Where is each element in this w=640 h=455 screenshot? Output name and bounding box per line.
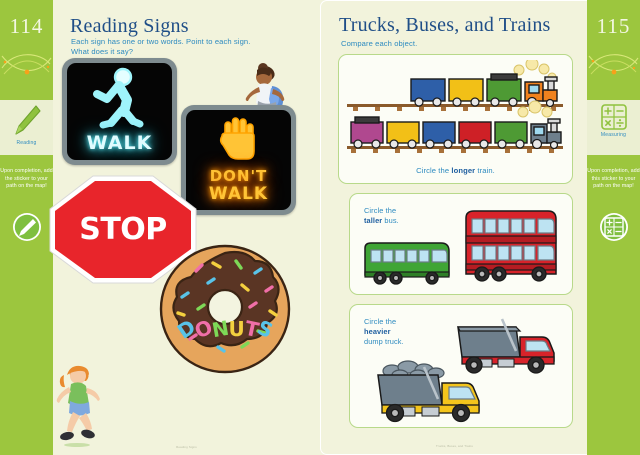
measuring-sticker-icon [599, 212, 629, 242]
right-rail-subject-label: Measuring [587, 132, 640, 138]
trains-illustration [345, 60, 567, 156]
right-page-number: 115 [587, 14, 640, 39]
walk-sign-face: WALK [67, 63, 172, 160]
trains-prompt: Circle the longer train. [339, 166, 572, 175]
right-page: Trucks, Buses, and Trains Compare each o… [320, 0, 588, 455]
walking-child-illustration [31, 355, 111, 450]
left-rail-subject: Reading [0, 104, 53, 146]
dont-walk-sign-word-2: WALK [186, 184, 291, 204]
walking-person-icon [67, 66, 162, 132]
right-sticker-badge [587, 212, 640, 247]
swirl-decoration [0, 42, 53, 84]
left-page: Reading Signs Each sign has one or two w… [53, 0, 320, 455]
left-page-subtitle-1: Each sign has one or two words. Point to… [71, 37, 311, 48]
right-page-subtitle: Compare each object. [341, 39, 571, 50]
right-page-title: Trucks, Buses, and Trains [339, 14, 551, 37]
right-rail: 115 Measuring [587, 0, 640, 455]
left-rail-subject-label: Reading [0, 140, 53, 146]
left-page-number: 114 [0, 14, 53, 39]
left-page-footer: Reading Signs [53, 445, 320, 449]
buses-prompt: Circle thetaller bus. [364, 206, 454, 226]
buses-prompt-pre: Circle the [364, 206, 396, 215]
left-upon-completion-text: Upon completion, add the sticker to your… [0, 168, 53, 191]
walk-sign[interactable]: WALK [62, 58, 177, 165]
left-sticker-badge [0, 212, 53, 247]
trains-panel[interactable]: Circle the longer train. [338, 54, 573, 184]
donut-icon [158, 243, 293, 375]
right-rail-bottom-band [587, 155, 640, 455]
left-page-title: Reading Signs [70, 15, 189, 38]
stop-sign-word: STOP [47, 211, 199, 246]
single-decker-bus [362, 240, 452, 286]
trucks-prompt-pre: Circle the [364, 317, 396, 326]
trains-prompt-bold: longer [451, 166, 475, 175]
buses-panel[interactable]: Circle thetaller bus. [349, 193, 573, 295]
trains-prompt-pre: Circle the [416, 166, 451, 175]
trains-prompt-post: train. [475, 166, 495, 175]
raised-hand-icon [218, 116, 260, 162]
right-page-footer: Trucks, Buses, and Trains [321, 444, 588, 448]
loaded-dump-truck [370, 357, 488, 423]
trucks-prompt-bold: heavier [364, 327, 391, 336]
trucks-prompt: Circle theheavierdump truck. [364, 317, 456, 347]
swirl-decoration-right [587, 42, 640, 84]
pencil-icon [12, 104, 42, 138]
trucks-prompt-post: dump truck. [364, 337, 404, 346]
buses-prompt-post: bus. [382, 216, 399, 225]
workbook-spread: 114 Reading Upon completion, add the sti… [0, 0, 640, 455]
donut-sign[interactable]: DONUTS [158, 243, 293, 375]
donut-word: DONUTS [158, 317, 293, 341]
double-decker-bus [462, 208, 560, 286]
pencil-sticker-icon [12, 212, 42, 242]
trucks-panel[interactable]: Circle theheavierdump truck. [349, 304, 573, 428]
right-upon-completion-text: Upon completion, add this sticker to you… [587, 168, 640, 191]
walk-sign-word: WALK [67, 132, 172, 154]
right-rail-subject: Measuring [587, 104, 640, 138]
dont-walk-sign-face: DON'T WALK [186, 110, 291, 210]
dont-walk-sign-word-1: DON'T [186, 167, 291, 185]
buses-prompt-bold: taller [364, 216, 382, 225]
measuring-icon [601, 104, 627, 130]
